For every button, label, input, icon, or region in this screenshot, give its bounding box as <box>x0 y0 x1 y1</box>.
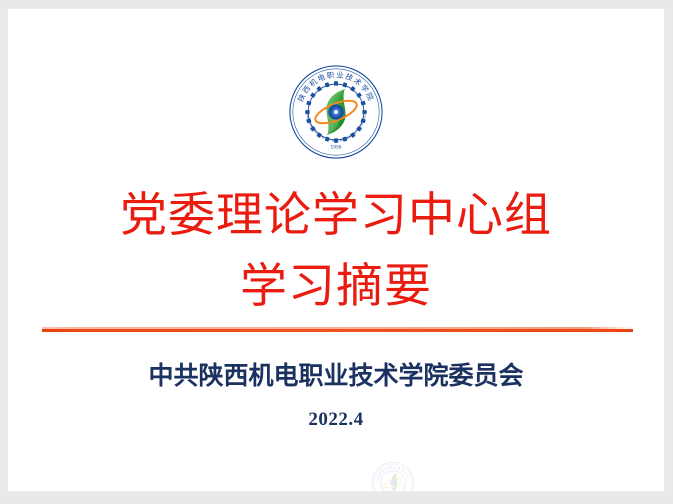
slide-canvas: 陕西机电职业技术学院 SHAANXI INSTITUTE OF MECHATRO… <box>8 9 664 491</box>
university-emblem-icon: 陕西机电职业技术学院 SHAANXI INSTITUTE OF MECHATRO… <box>288 64 384 160</box>
page-title-line-2: 学习摘要 <box>8 258 664 316</box>
divider-rule <box>42 327 633 333</box>
date-label: 2022.4 <box>8 407 664 433</box>
divider-bar <box>42 329 633 332</box>
svg-text:SHAANXI INSTITUTE OF MECHATRON: SHAANXI INSTITUTE OF MECHATRONIC TECHNOL… <box>371 461 406 491</box>
slide-frame: 陕西机电职业技术学院 SHAANXI INSTITUTE OF MECHATRO… <box>0 0 673 504</box>
title-block: 党委理论学习中心组 学习摘要 <box>8 187 664 316</box>
emblem-container: 陕西机电职业技术学院 SHAANXI INSTITUTE OF MECHATRO… <box>8 64 664 160</box>
svg-text:1956: 1956 <box>331 144 342 150</box>
university-emblem-watermark-icon: 陕西机电职业技术学院 SHAANXI INSTITUTE OF MECHATRO… <box>371 461 415 491</box>
page-title-line-1: 党委理论学习中心组 <box>8 187 664 245</box>
organization-name: 中共陕西机电职业技术学院委员会 <box>8 361 664 393</box>
